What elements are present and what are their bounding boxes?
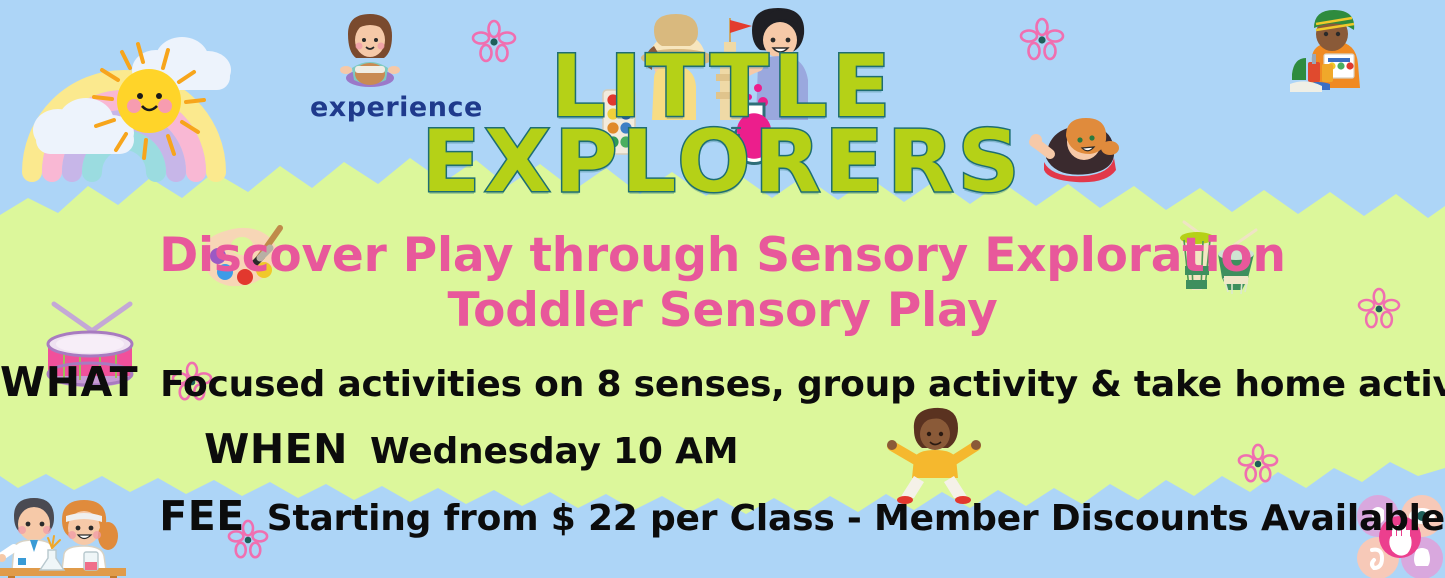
headline-line-1: Discover Play through Sensory Exploratio…: [0, 228, 1445, 283]
headline-block: Discover Play through Sensory Exploratio…: [0, 228, 1445, 339]
detail-value-what: Focused activities on 8 senses, group ac…: [160, 364, 1445, 405]
detail-label-fee: FEE: [0, 492, 267, 540]
detail-label-what: WHAT: [0, 358, 160, 406]
detail-row-fee: FEE Starting from $ 22 per Class - Membe…: [0, 492, 1445, 559]
detail-row-what: WHAT Focused activities on 8 senses, gro…: [0, 358, 1445, 425]
painting-child-illustration: [1284, 6, 1376, 92]
paint-tray-icon: [603, 90, 635, 154]
detail-value-fee: Starting from $ 22 per Class - Member Di…: [267, 498, 1445, 539]
flower-icon: [1020, 18, 1064, 62]
detail-row-when: WHEN Wednesday 10 AM: [0, 425, 1445, 492]
detail-list: WHAT Focused activities on 8 senses, gro…: [0, 358, 1445, 559]
brand-wordmark: experience: [310, 92, 483, 123]
tumbling-girl-illustration: [1028, 112, 1122, 184]
headline-line-2: Toddler Sensory Play: [0, 283, 1445, 338]
girl-drumming-illustration: [328, 8, 412, 94]
rainbow-sun-icon: [8, 2, 238, 180]
detail-label-when: WHEN: [0, 425, 370, 473]
promotional-banner: experience: [0, 0, 1445, 578]
detail-value-when: Wednesday 10 AM: [370, 431, 738, 472]
flower-icon: [472, 20, 516, 64]
science-flask-icon: [716, 78, 784, 166]
